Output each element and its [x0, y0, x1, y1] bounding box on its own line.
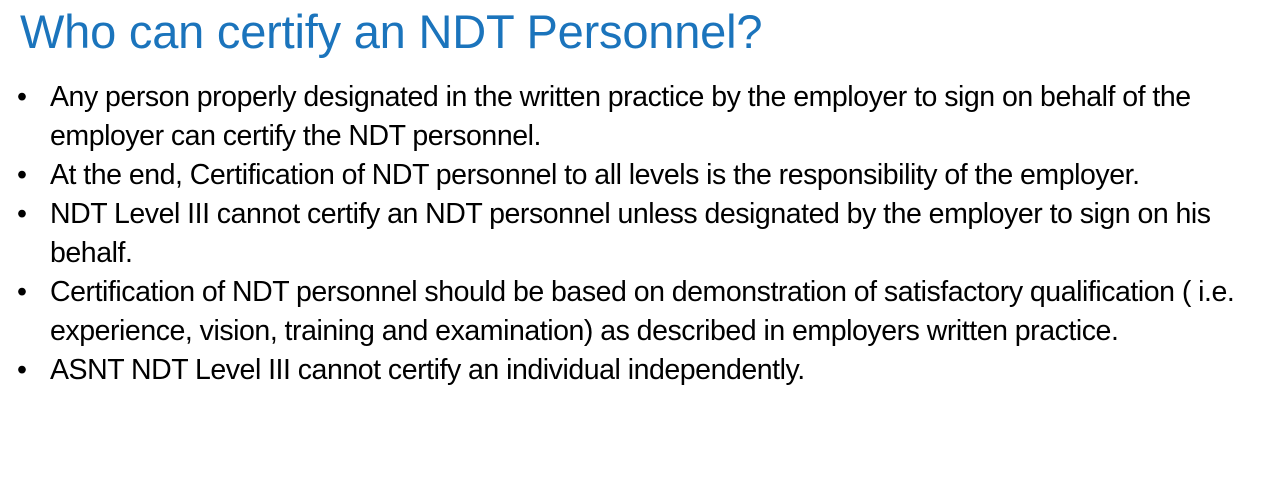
bullet-point-icon: •: [17, 273, 33, 312]
slide-canvas: Who can certify an NDT Personnel? • Any …: [0, 0, 1280, 486]
list-item-text: Any person properly designated in the wr…: [50, 78, 1258, 156]
bullet-point-icon: •: [17, 195, 33, 234]
bullet-point-icon: •: [17, 351, 33, 390]
list-item: • ASNT NDT Level III cannot certify an i…: [0, 351, 1280, 390]
page-title: Who can certify an NDT Personnel?: [20, 2, 1260, 62]
bullet-list: • Any person properly designated in the …: [0, 78, 1280, 390]
list-item-text: NDT Level III cannot certify an NDT pers…: [50, 195, 1258, 273]
list-item-text: Certification of NDT personnel should be…: [50, 273, 1258, 351]
bullet-point-icon: •: [17, 156, 33, 195]
list-item-text: ASNT NDT Level III cannot certify an ind…: [50, 351, 1258, 390]
list-item: • Any person properly designated in the …: [0, 78, 1280, 156]
list-item: • At the end, Certification of NDT perso…: [0, 156, 1280, 195]
list-item: • NDT Level III cannot certify an NDT pe…: [0, 195, 1280, 273]
list-item-text: At the end, Certification of NDT personn…: [50, 156, 1258, 195]
list-item: • Certification of NDT personnel should …: [0, 273, 1280, 351]
bullet-point-icon: •: [17, 78, 33, 117]
